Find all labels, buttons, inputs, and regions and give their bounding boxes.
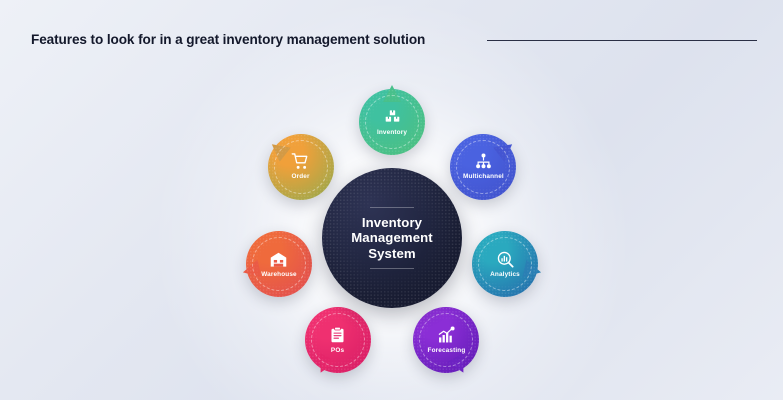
growth-chart-icon (437, 326, 456, 345)
bubble-label-pos: POs (331, 347, 344, 355)
feature-bubble-analytics[interactable]: Analytics (472, 231, 538, 297)
bubble-tail-pos (312, 354, 336, 377)
center-divider-top (370, 207, 414, 208)
bubble-label-forecasting: Forecasting (428, 347, 466, 355)
bubble-label-order: Order (292, 173, 310, 181)
feature-bubble-multichannel[interactable]: Multichannel (450, 134, 516, 200)
center-divider-bottom (370, 268, 414, 269)
bubble-tail-inventory (383, 85, 401, 102)
bubble-tail-analytics (522, 260, 543, 281)
bubble-label-analytics: Analytics (490, 271, 520, 279)
feature-bubble-order[interactable]: Order (268, 134, 334, 200)
inventory-system-diagram: InventoryMultichannelAnalyticsForecastin… (0, 0, 783, 400)
boxes-icon (383, 108, 402, 127)
bubble-tail-forecasting (448, 354, 472, 377)
center-label-line2: Management (351, 230, 433, 246)
feature-bubble-forecasting[interactable]: Forecasting (413, 307, 479, 373)
clipboard-icon (328, 326, 347, 345)
feature-bubble-inventory[interactable]: Inventory (359, 89, 425, 155)
center-label: Inventory Management System (351, 215, 433, 262)
bubble-label-inventory: Inventory (377, 129, 407, 137)
feature-bubble-pos[interactable]: POs (305, 307, 371, 373)
feature-bubble-warehouse[interactable]: Warehouse (246, 231, 312, 297)
chart-search-icon (496, 250, 515, 269)
bubble-label-warehouse: Warehouse (261, 271, 297, 279)
center-label-line3: System (351, 246, 433, 262)
bubble-label-multichannel: Multichannel (463, 173, 504, 181)
center-label-line1: Inventory (351, 215, 433, 231)
infographic-canvas: Features to look for in a great inventor… (0, 0, 783, 400)
bubble-tail-order (266, 137, 290, 162)
bubble-tail-multichannel (494, 137, 518, 162)
warehouse-icon (269, 250, 288, 269)
center-node: Inventory Management System (322, 168, 462, 308)
bubble-tail-warehouse (241, 260, 262, 281)
network-icon (474, 152, 493, 171)
shopping-cart-icon (291, 152, 310, 171)
